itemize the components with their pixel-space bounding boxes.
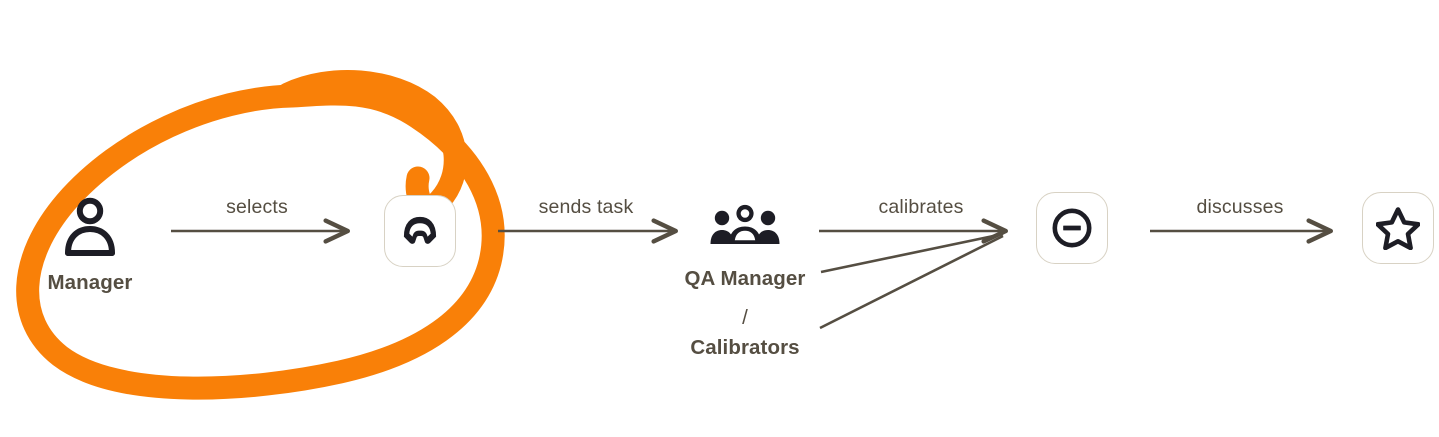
arrow-calibrates-2 — [821, 234, 1003, 272]
person-icon[interactable] — [64, 196, 116, 258]
people-group-icon[interactable] — [709, 203, 781, 251]
evaluation-node-box[interactable] — [1036, 192, 1108, 264]
person-icon-glyph — [64, 196, 116, 258]
arrow-calibrates-3 — [820, 236, 1003, 328]
score-node-box[interactable] — [1362, 192, 1434, 264]
node-label-qa-manager: QA Manager — [685, 267, 806, 291]
node-label-calibrators: Calibrators — [690, 336, 799, 360]
node-label-separator: / — [742, 306, 748, 330]
people-group-icon-glyph — [709, 203, 781, 251]
edge-label-discusses: discusses — [1197, 196, 1284, 219]
edge-label-calibrates: calibrates — [879, 196, 964, 219]
edge-label-sends-task: sends task — [539, 196, 634, 219]
minus-circle-icon — [1050, 206, 1094, 250]
star-icon — [1376, 206, 1420, 250]
diagram-canvas: Manager selects sends task QA Manager / … — [0, 0, 1439, 437]
call-node-box[interactable] — [384, 195, 456, 267]
phone-hangup-icon — [398, 209, 442, 253]
edge-label-selects: selects — [226, 196, 288, 219]
node-label-manager: Manager — [47, 271, 132, 295]
